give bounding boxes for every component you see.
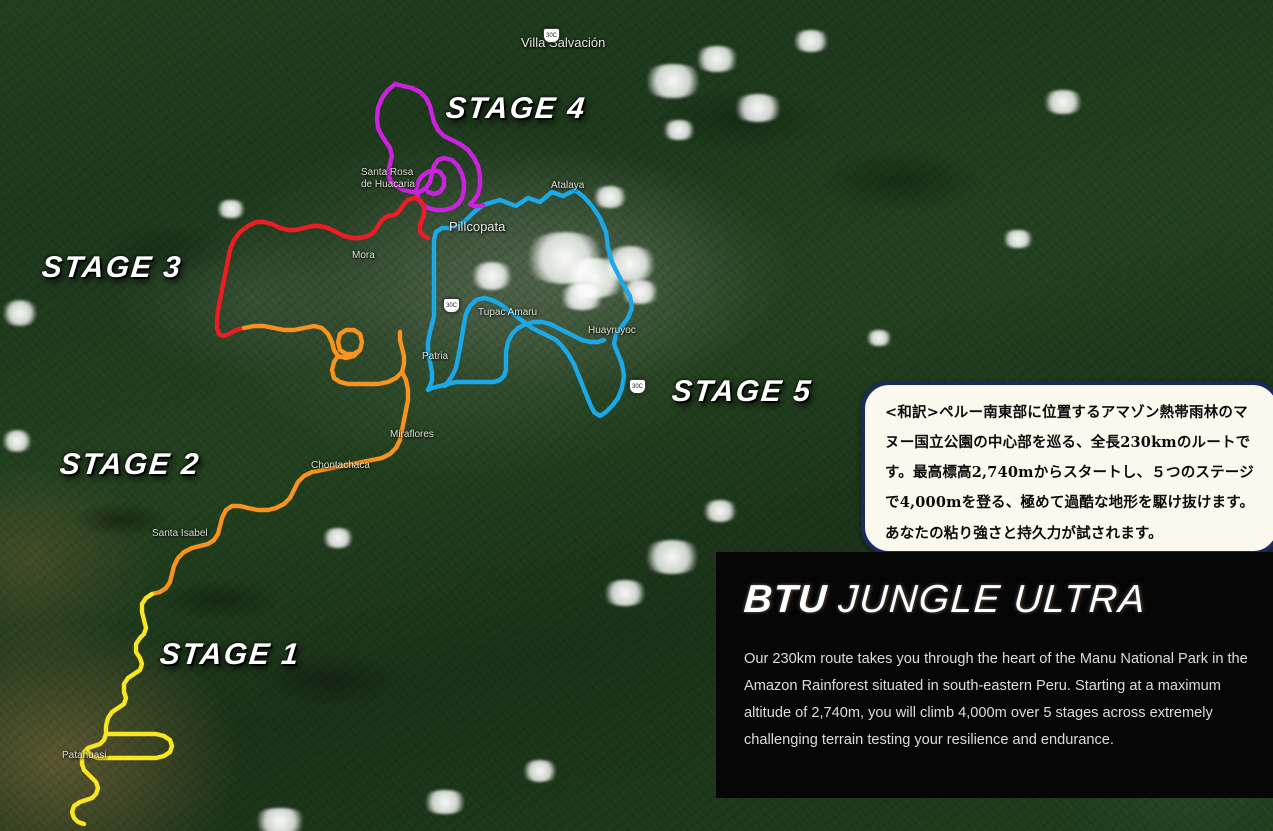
place-label-tupac-amaru: Tupac Amaru xyxy=(478,307,537,319)
japanese-translation-callout: <和訳>ペルー南東部に位置するアマゾン熱帯雨林のマヌー国立公園の中心部を巡る、全… xyxy=(861,381,1273,555)
stage-label-2: STAGE 2 xyxy=(58,448,202,482)
place-label-santa-rosa-de-huacaria: Santa Rosa de Huacaria xyxy=(361,167,415,190)
place-label-miraflores: Miraflores xyxy=(390,429,434,441)
brand-btu: BTU xyxy=(743,578,829,621)
place-label-patahuasi: Patahuasi xyxy=(62,750,106,762)
stage-label-4: STAGE 4 xyxy=(444,92,588,126)
route-map-screen: Villa Salvación Santa Rosa de Huacaria A… xyxy=(0,0,1273,831)
brand-title: BTU JUNGLE ULTRA xyxy=(742,578,1147,622)
place-label-villa-salvacion: Villa Salvación xyxy=(521,36,605,51)
highway-shield-icon[interactable]: 30C xyxy=(543,28,560,43)
highway-shield-icon[interactable]: 30C xyxy=(629,379,646,394)
stage-3-route-red[interactable] xyxy=(217,198,428,336)
stage-label-3: STAGE 3 xyxy=(40,251,184,285)
place-label-huayruyoc: Huayruyoc xyxy=(588,325,636,337)
place-label-patria: Patria xyxy=(422,351,448,363)
place-label-chontachaca: Chontachaca xyxy=(311,460,370,472)
stage-label-5: STAGE 5 xyxy=(670,375,814,409)
brand-name: JUNGLE ULTRA xyxy=(837,578,1148,621)
japanese-translation-text: <和訳>ペルー南東部に位置するアマゾン熱帯雨林のマヌー国立公園の中心部を巡る、全… xyxy=(885,398,1257,549)
stage-1-route-yellow[interactable] xyxy=(72,594,172,824)
place-label-santa-isabel: Santa Isabel xyxy=(152,528,208,540)
btu-jungle-ultra-panel: BTU JUNGLE ULTRA Our 230km route takes y… xyxy=(716,552,1273,798)
place-label-atalaya: Atalaya xyxy=(551,180,584,192)
place-label-mora: Mora xyxy=(352,250,375,262)
stage-label-1: STAGE 1 xyxy=(158,638,302,672)
highway-shield-icon[interactable]: 30C xyxy=(443,298,460,313)
place-label-pillcopata: Pillcopata xyxy=(449,220,505,235)
panel-description: Our 230km route takes you through the he… xyxy=(744,646,1255,754)
